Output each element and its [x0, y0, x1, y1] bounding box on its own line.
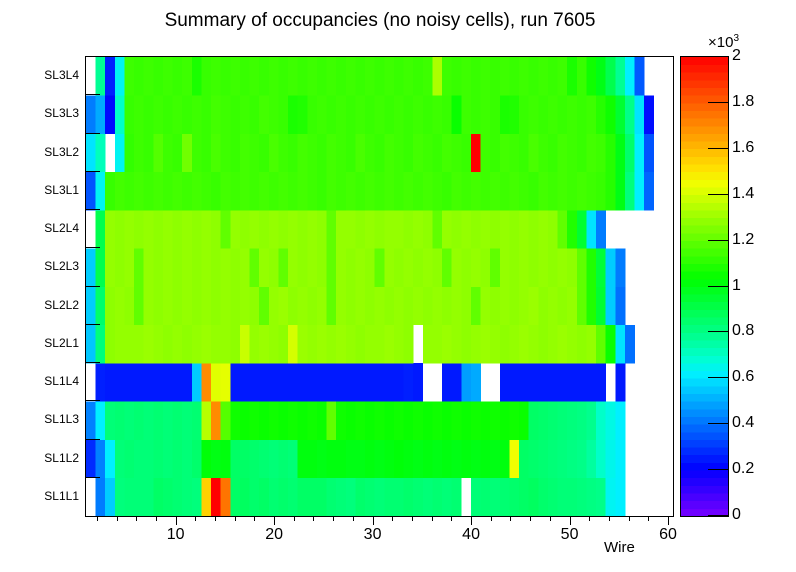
heatmap-cell — [461, 248, 471, 287]
heatmap-cell — [134, 95, 144, 134]
heatmap-cell — [413, 172, 423, 211]
heatmap-cell — [365, 287, 375, 326]
y-axis-tick — [86, 133, 100, 134]
heatmap-cell — [615, 248, 625, 287]
heatmap-cell — [567, 134, 577, 173]
heatmap-cell — [567, 440, 577, 479]
heatmap-cell — [288, 248, 298, 287]
heatmap-cell — [481, 248, 491, 287]
heatmap-cell — [269, 401, 279, 440]
heatmap-cell — [230, 478, 240, 516]
heatmap-cell — [192, 57, 202, 96]
heatmap-cell — [423, 401, 433, 440]
heatmap-cell — [596, 57, 606, 96]
heatmap-cell — [375, 363, 385, 402]
heatmap-cell — [606, 134, 616, 173]
heatmap-cell — [529, 57, 539, 96]
heatmap-cell — [625, 57, 635, 96]
heatmap-cell — [365, 95, 375, 134]
heatmap-cell — [173, 134, 183, 173]
y-axis-tick — [86, 477, 100, 478]
heatmap-cell — [519, 440, 529, 479]
heatmap-cell — [423, 210, 433, 249]
x-axis-minor-tick — [530, 516, 531, 521]
heatmap-cell — [144, 134, 154, 173]
heatmap-cell — [346, 210, 356, 249]
heatmap-plot-area[interactable] — [85, 56, 674, 517]
heatmap-cell — [124, 248, 134, 287]
heatmap-cell — [432, 287, 442, 326]
heatmap-cell — [615, 478, 625, 516]
heatmap-cell — [365, 478, 375, 516]
heatmap-cell — [413, 95, 423, 134]
heatmap-cell — [471, 172, 481, 211]
heatmap-cell — [182, 287, 192, 326]
heatmap-cell — [394, 172, 404, 211]
heatmap-cell — [327, 57, 337, 96]
x-axis-major-tick — [274, 516, 275, 525]
heatmap-cell — [298, 401, 308, 440]
heatmap-cell — [153, 287, 163, 326]
x-axis-minor-tick — [510, 516, 511, 521]
heatmap-cell — [384, 172, 394, 211]
heatmap-cell — [230, 401, 240, 440]
heatmap-cell — [481, 325, 491, 364]
heatmap-cell — [317, 172, 327, 211]
heatmap-cell — [240, 172, 250, 211]
heatmap-cells — [86, 57, 673, 516]
heatmap-cell — [442, 325, 452, 364]
heatmap-cell — [173, 287, 183, 326]
heatmap-cell — [490, 210, 500, 249]
y-axis-tick — [86, 247, 100, 248]
heatmap-cell — [586, 478, 596, 516]
heatmap-cell — [298, 363, 308, 402]
heatmap-cell — [230, 172, 240, 211]
heatmap-cell — [144, 363, 154, 402]
heatmap-cell — [288, 363, 298, 402]
heatmap-cell — [250, 287, 260, 326]
heatmap-cell — [375, 95, 385, 134]
heatmap-cell — [509, 325, 519, 364]
heatmap-cell — [490, 57, 500, 96]
heatmap-cell — [577, 401, 587, 440]
x-axis-major-tick — [373, 516, 374, 525]
x-axis-tick-label: 40 — [462, 526, 480, 544]
heatmap-cell — [250, 248, 260, 287]
heatmap-cell — [365, 172, 375, 211]
heatmap-cell — [413, 210, 423, 249]
heatmap-cell — [538, 363, 548, 402]
heatmap-cell — [192, 210, 202, 249]
heatmap-cell — [221, 172, 231, 211]
heatmap-cell — [201, 172, 211, 211]
colorbar-tick — [708, 194, 729, 195]
heatmap-cell — [442, 248, 452, 287]
heatmap-cell — [365, 134, 375, 173]
heatmap-cell — [423, 287, 433, 326]
heatmap-cell — [423, 57, 433, 96]
heatmap-cell — [567, 95, 577, 134]
heatmap-cell — [509, 95, 519, 134]
heatmap-cell — [307, 440, 317, 479]
heatmap-cell — [384, 287, 394, 326]
colorbar-tick-label: 0.6 — [732, 368, 754, 386]
heatmap-cell — [163, 248, 173, 287]
heatmap-cell — [490, 287, 500, 326]
y-axis-tick — [86, 286, 100, 287]
heatmap-cell — [509, 172, 519, 211]
heatmap-cell — [567, 401, 577, 440]
heatmap-cell — [423, 440, 433, 479]
colorbar-tick-label: 0.2 — [732, 460, 754, 478]
heatmap-cell — [355, 325, 365, 364]
heatmap-cell — [163, 363, 173, 402]
heatmap-cell — [529, 401, 539, 440]
y-axis-tick — [86, 439, 100, 440]
heatmap-cell — [192, 478, 202, 516]
heatmap-cell — [615, 325, 625, 364]
heatmap-cell — [250, 57, 260, 96]
heatmap-cell — [230, 57, 240, 96]
heatmap-cell — [250, 172, 260, 211]
colorbar-tick — [708, 102, 729, 103]
heatmap-cell — [221, 134, 231, 173]
heatmap-cell — [452, 172, 462, 211]
heatmap-cell — [153, 95, 163, 134]
heatmap-cell — [471, 363, 481, 402]
heatmap-cell — [259, 57, 269, 96]
heatmap-cell — [144, 57, 154, 96]
heatmap-cell — [644, 172, 654, 211]
heatmap-cell — [182, 95, 192, 134]
colorbar-tick — [708, 377, 729, 378]
heatmap-cell — [182, 325, 192, 364]
heatmap-cell — [365, 363, 375, 402]
heatmap-cell — [317, 57, 327, 96]
heatmap-cell — [558, 363, 568, 402]
heatmap-cell — [144, 95, 154, 134]
x-axis-minor-tick — [432, 516, 433, 521]
heatmap-cell — [153, 57, 163, 96]
heatmap-cell — [211, 248, 221, 287]
heatmap-cell — [327, 440, 337, 479]
x-axis-minor-tick — [215, 516, 216, 521]
heatmap-cell — [211, 134, 221, 173]
heatmap-cell — [173, 210, 183, 249]
heatmap-cell — [240, 440, 250, 479]
heatmap-cell — [144, 248, 154, 287]
heatmap-cell — [586, 210, 596, 249]
x-axis-minor-tick — [254, 516, 255, 521]
heatmap-cell — [635, 134, 645, 173]
heatmap-cell — [298, 210, 308, 249]
x-axis-tick-label: 60 — [659, 526, 677, 544]
heatmap-cell — [461, 172, 471, 211]
heatmap-cell — [355, 134, 365, 173]
x-axis-tick-label: 50 — [561, 526, 579, 544]
heatmap-cell — [529, 440, 539, 479]
heatmap-cell — [365, 325, 375, 364]
heatmap-cell — [327, 401, 337, 440]
x-axis-major-tick — [176, 516, 177, 525]
heatmap-cell — [346, 287, 356, 326]
heatmap-cell — [490, 401, 500, 440]
y-axis-tick — [86, 209, 100, 210]
heatmap-cell — [355, 248, 365, 287]
heatmap-cell — [230, 95, 240, 134]
heatmap-cell — [596, 440, 606, 479]
heatmap-cell — [336, 363, 346, 402]
heatmap-cell — [404, 287, 414, 326]
heatmap-cell — [567, 478, 577, 516]
heatmap-cell — [558, 401, 568, 440]
colorbar-tick-label: 0.8 — [732, 322, 754, 340]
x-axis-major-tick — [668, 516, 669, 525]
heatmap-cell — [413, 440, 423, 479]
heatmap-cell — [153, 325, 163, 364]
heatmap-cell — [250, 95, 260, 134]
heatmap-cell — [346, 325, 356, 364]
heatmap-cell — [596, 325, 606, 364]
x-axis-minor-tick — [609, 516, 610, 521]
heatmap-cell — [336, 134, 346, 173]
heatmap-cell — [317, 478, 327, 516]
heatmap-cell — [134, 172, 144, 211]
heatmap-cell — [211, 440, 221, 479]
heatmap-cell — [230, 248, 240, 287]
heatmap-cell — [230, 134, 240, 173]
heatmap-cell — [413, 401, 423, 440]
heatmap-cell — [298, 172, 308, 211]
heatmap-cell — [288, 172, 298, 211]
heatmap-cell — [375, 478, 385, 516]
heatmap-cell — [548, 248, 558, 287]
heatmap-cell — [221, 401, 231, 440]
heatmap-cell — [307, 287, 317, 326]
heatmap-cell — [452, 57, 462, 96]
heatmap-cell — [615, 57, 625, 96]
heatmap-cell — [201, 287, 211, 326]
heatmap-cell — [500, 287, 510, 326]
heatmap-cell — [615, 172, 625, 211]
heatmap-cell — [278, 287, 288, 326]
heatmap-cell — [548, 134, 558, 173]
heatmap-cell — [201, 57, 211, 96]
heatmap-cell — [307, 248, 317, 287]
heatmap-cell — [317, 287, 327, 326]
heatmap-cell — [577, 57, 587, 96]
heatmap-cell — [201, 363, 211, 402]
x-axis-minor-tick — [235, 516, 236, 521]
heatmap-cell — [221, 248, 231, 287]
heatmap-cell — [461, 325, 471, 364]
heatmap-cell — [413, 478, 423, 516]
heatmap-cell — [413, 57, 423, 96]
heatmap-cell — [298, 287, 308, 326]
heatmap-cell — [134, 248, 144, 287]
heatmap-cell — [134, 363, 144, 402]
heatmap-cell — [124, 363, 134, 402]
heatmap-cell — [577, 363, 587, 402]
heatmap-cell — [240, 401, 250, 440]
heatmap-cell — [288, 134, 298, 173]
heatmap-cell — [375, 57, 385, 96]
heatmap-cell — [404, 248, 414, 287]
heatmap-cell — [529, 248, 539, 287]
x-axis-minor-tick — [156, 516, 157, 521]
heatmap-cell — [336, 401, 346, 440]
heatmap-cell — [346, 134, 356, 173]
heatmap-cell — [298, 325, 308, 364]
heatmap-cell — [124, 325, 134, 364]
heatmap-cell — [163, 57, 173, 96]
heatmap-cell — [586, 401, 596, 440]
heatmap-cell — [298, 57, 308, 96]
heatmap-cell — [519, 363, 529, 402]
heatmap-cell — [355, 401, 365, 440]
heatmap-cell — [452, 363, 462, 402]
heatmap-cell — [240, 325, 250, 364]
heatmap-cell — [538, 478, 548, 516]
heatmap-cell — [355, 440, 365, 479]
heatmap-cell — [298, 248, 308, 287]
heatmap-cell — [394, 440, 404, 479]
heatmap-cell — [452, 248, 462, 287]
heatmap-cell — [211, 172, 221, 211]
heatmap-cell — [500, 172, 510, 211]
heatmap-cell — [481, 478, 491, 516]
heatmap-cell — [500, 95, 510, 134]
heatmap-cell — [471, 248, 481, 287]
heatmap-cell — [288, 210, 298, 249]
heatmap-cell — [548, 287, 558, 326]
heatmap-cell — [394, 325, 404, 364]
heatmap-cell — [365, 248, 375, 287]
heatmap-cell — [432, 401, 442, 440]
x-axis-minor-tick — [136, 516, 137, 521]
heatmap-cell — [124, 210, 134, 249]
x-axis-title: Wire — [604, 539, 635, 556]
heatmap-cell — [384, 440, 394, 479]
heatmap-cell — [269, 287, 279, 326]
heatmap-cell — [201, 478, 211, 516]
heatmap-cell — [355, 95, 365, 134]
heatmap-cell — [153, 134, 163, 173]
heatmap-cell — [432, 172, 442, 211]
heatmap-cell — [567, 172, 577, 211]
heatmap-cell — [519, 57, 529, 96]
heatmap-cell — [490, 95, 500, 134]
heatmap-cell — [442, 57, 452, 96]
heatmap-cell — [124, 57, 134, 96]
heatmap-cell — [519, 325, 529, 364]
heatmap-cell — [240, 95, 250, 134]
x-axis-minor-tick — [333, 516, 334, 521]
x-axis-minor-tick — [451, 516, 452, 521]
heatmap-cell — [404, 210, 414, 249]
heatmap-cell — [432, 325, 442, 364]
heatmap-cell — [259, 210, 269, 249]
heatmap-cell — [577, 287, 587, 326]
heatmap-cell — [144, 172, 154, 211]
heatmap-cell — [327, 95, 337, 134]
heatmap-cell — [173, 440, 183, 479]
heatmap-cell — [124, 287, 134, 326]
heatmap-cell — [355, 172, 365, 211]
heatmap-cell — [606, 287, 616, 326]
heatmap-cell — [221, 478, 231, 516]
heatmap-cell — [240, 57, 250, 96]
heatmap-cell — [509, 210, 519, 249]
heatmap-cell — [288, 325, 298, 364]
heatmap-cell — [548, 363, 558, 402]
heatmap-cell — [423, 478, 433, 516]
heatmap-cell — [558, 248, 568, 287]
heatmap-cell — [509, 363, 519, 402]
heatmap-cell — [355, 287, 365, 326]
x-axis-minor-tick — [589, 516, 590, 521]
heatmap-cell — [625, 325, 635, 364]
heatmap-cell — [394, 57, 404, 96]
heatmap-cell — [452, 95, 462, 134]
heatmap-cell — [240, 248, 250, 287]
heatmap-cell — [538, 95, 548, 134]
heatmap-cell — [442, 287, 452, 326]
heatmap-cell — [192, 134, 202, 173]
heatmap-cell — [346, 57, 356, 96]
heatmap-cell — [375, 325, 385, 364]
heatmap-cell — [230, 363, 240, 402]
heatmap-cell — [558, 95, 568, 134]
heatmap-cell — [144, 325, 154, 364]
heatmap-cell — [548, 440, 558, 479]
heatmap-cell — [452, 325, 462, 364]
heatmap-cell — [394, 287, 404, 326]
heatmap-cell — [586, 248, 596, 287]
heatmap-cell — [529, 325, 539, 364]
heatmap-cell — [211, 325, 221, 364]
heatmap-cell — [317, 401, 327, 440]
heatmap-cell — [163, 95, 173, 134]
heatmap-cell — [192, 172, 202, 211]
heatmap-cell — [384, 478, 394, 516]
heatmap-cell — [124, 440, 134, 479]
colorbar-tick — [708, 423, 729, 424]
heatmap-cell — [615, 134, 625, 173]
heatmap-cell — [413, 363, 423, 402]
heatmap-cell — [490, 325, 500, 364]
heatmap-cell — [182, 210, 192, 249]
heatmap-cell — [625, 134, 635, 173]
heatmap-cell — [192, 440, 202, 479]
heatmap-cell — [327, 172, 337, 211]
heatmap-cell — [490, 134, 500, 173]
heatmap-cell — [432, 440, 442, 479]
x-axis-ticks: 102030405060 — [85, 516, 674, 550]
heatmap-cell — [577, 325, 587, 364]
colorbar-tick — [708, 286, 729, 287]
heatmap-cell — [538, 172, 548, 211]
heatmap-cell — [163, 478, 173, 516]
heatmap-cell — [327, 325, 337, 364]
heatmap-cell — [173, 401, 183, 440]
heatmap-cell — [384, 363, 394, 402]
heatmap-cell — [461, 363, 471, 402]
heatmap-cell — [153, 210, 163, 249]
colorbar-tick — [708, 515, 729, 516]
heatmap-cell — [461, 57, 471, 96]
